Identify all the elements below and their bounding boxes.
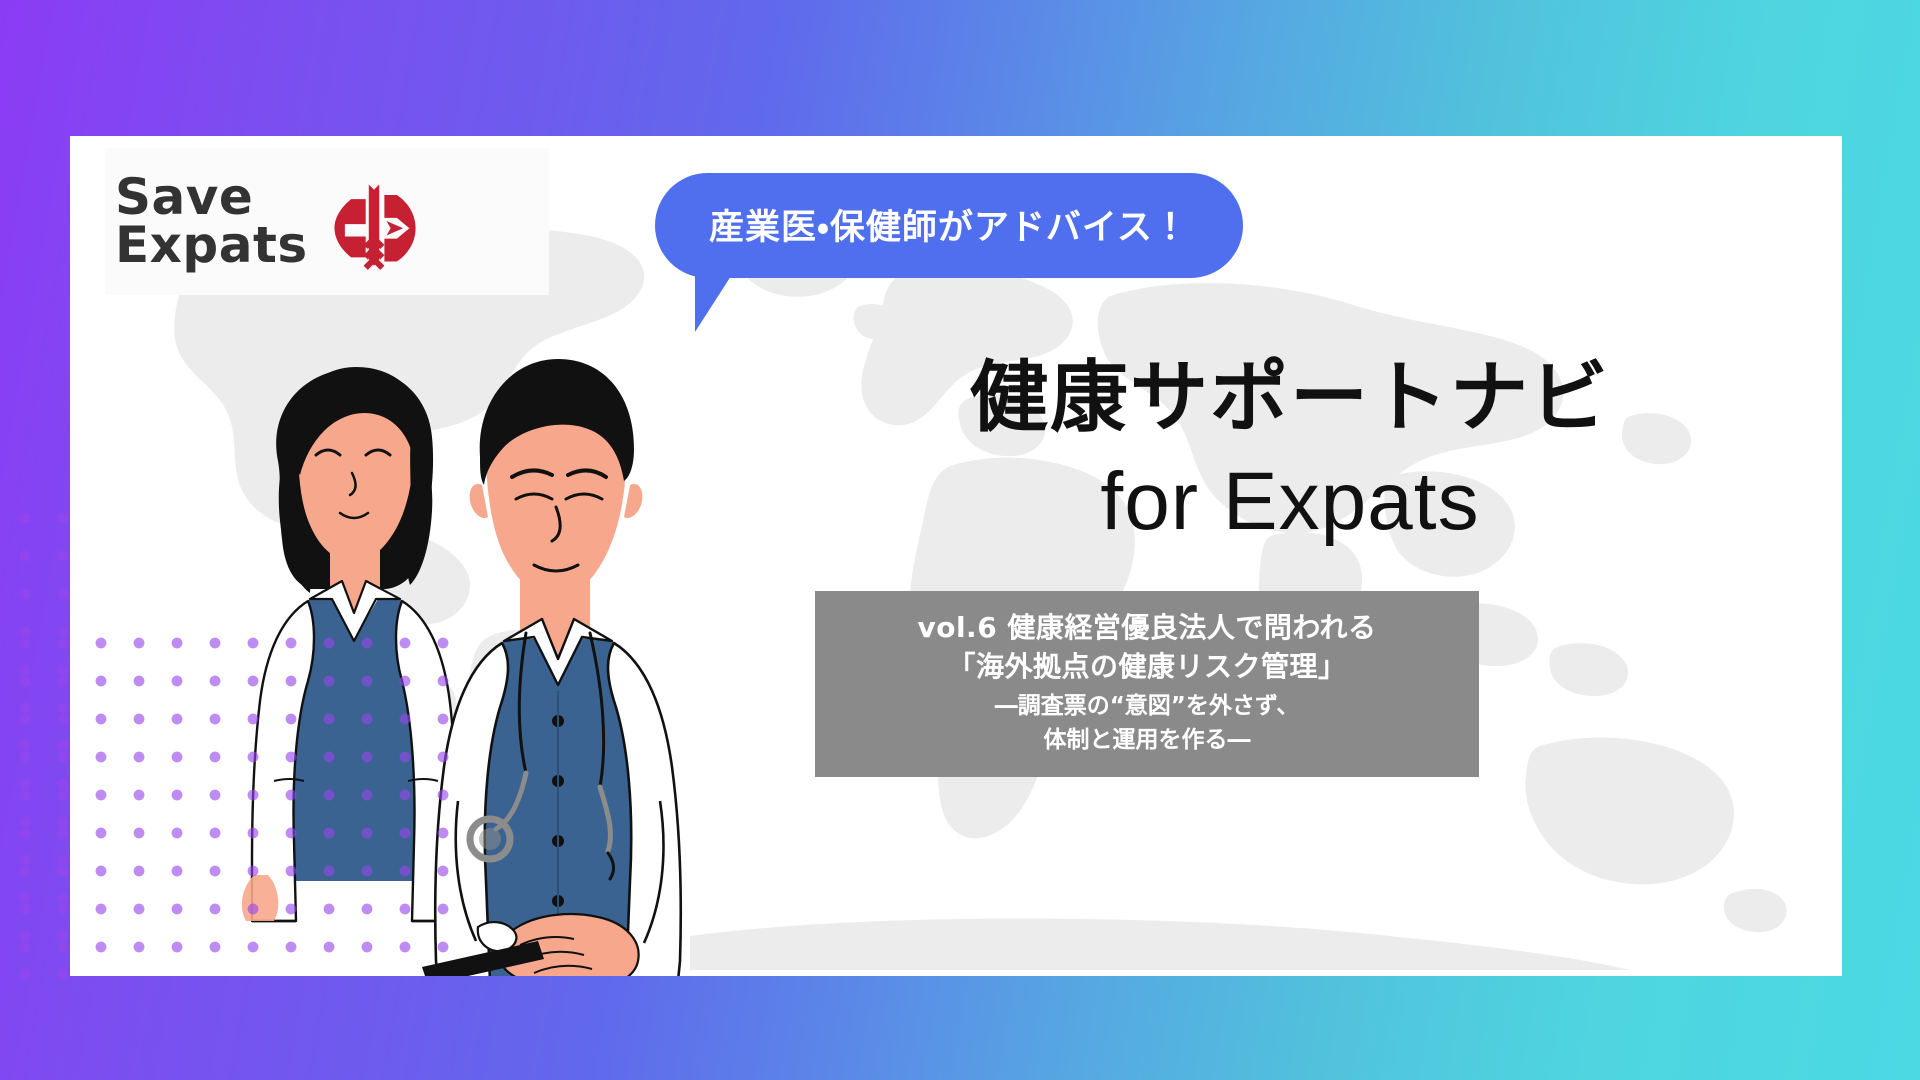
save-expats-emblem-icon: [322, 170, 426, 274]
caption-line-3: ―調査票の“意図”を外さず、: [831, 690, 1463, 723]
caption-line-4: 体制と運用を作る―: [831, 724, 1463, 757]
caption-line-1: vol.6 健康経営優良法人で問われる: [831, 609, 1463, 648]
speech-bubble-tail: [695, 276, 753, 332]
caption-box: vol.6 健康経営優良法人で問われる 「海外拠点の健康リスク管理」 ―調査票の…: [815, 591, 1479, 777]
headline-english: for Expats: [770, 452, 1810, 552]
brand-logo-line2: Expats: [115, 222, 308, 270]
speech-bubble-body: 産業医・保健師がアドバイス！: [655, 173, 1243, 278]
caption-line-2: 「海外拠点の健康リスク管理」: [831, 648, 1463, 687]
brand-logo-line1: Save: [115, 174, 308, 222]
banner-root: Save Expats: [0, 0, 1920, 1080]
content-card: Save Expats: [70, 136, 1842, 976]
headline-japanese: 健康サポートナビ: [770, 351, 1810, 446]
speech-bubble-text: 産業医・保健師がアドバイス！: [709, 199, 1189, 250]
brand-logo-text: Save Expats: [115, 174, 308, 269]
speech-bubble: 産業医・保健師がアドバイス！: [655, 173, 1243, 278]
headline-block: 健康サポートナビ for Expats: [770, 351, 1810, 552]
brand-logo[interactable]: Save Expats: [105, 148, 549, 295]
